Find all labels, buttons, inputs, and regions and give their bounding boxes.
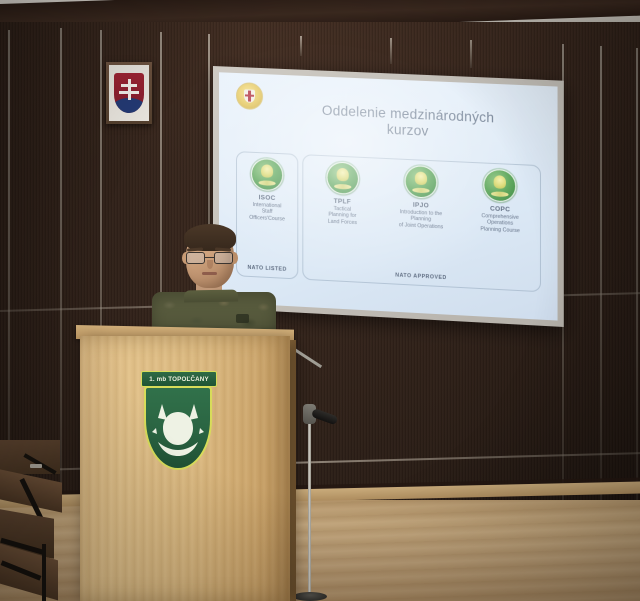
unit-crest: 1. mb TOPOĽČANY	[139, 371, 217, 471]
course-description: International Staff Officers'Course	[247, 202, 287, 223]
unit-crest-banner: 1. mb TOPOĽČANY	[141, 371, 217, 387]
uniform-patch	[236, 314, 249, 323]
course-description: Tactical Planning for Land Forces	[326, 205, 359, 226]
speaker-collar	[184, 290, 238, 303]
microphone-stand-pole	[308, 419, 311, 601]
coat-of-arms-shield	[114, 73, 144, 113]
course-badge-icon	[251, 158, 283, 192]
coat-of-arms-mat	[109, 65, 149, 121]
speaker-hair	[184, 224, 236, 251]
chair-leg	[42, 544, 46, 601]
nato-status-label: NATO APPROVED	[395, 272, 446, 281]
course-code: IPJO	[413, 202, 429, 210]
course-description: Comprehensive Operations Planning Course	[478, 213, 522, 235]
course-description: Introduction to the Planning of Joint Op…	[397, 209, 445, 231]
course-badge-icon	[326, 161, 358, 195]
double-cross-vertical	[128, 79, 131, 100]
chair-frame-cap	[30, 464, 42, 468]
course-badge-icon	[405, 165, 438, 199]
lynx-head-icon	[150, 398, 206, 460]
chair-seat	[0, 469, 62, 512]
course-group-nato-approved: TPLF Tactical Planning for Land Forces I…	[302, 154, 541, 292]
course-groups: ISOC International Staff Officers'Course…	[236, 151, 541, 292]
glasses-lens-left	[186, 252, 205, 264]
slide-emblem-icon	[236, 82, 263, 110]
glasses-bridge	[205, 257, 214, 258]
chairs-group	[0, 440, 86, 601]
slide-title: Oddelenie medzinárodných kurzov	[271, 101, 546, 146]
course-card-ipjo: IPJO Introduction to the Planning of Joi…	[389, 164, 452, 231]
course-code: ISOC	[259, 194, 276, 202]
course-desc-line: of Joint Operations	[399, 222, 443, 231]
unit-crest-text: 1. mb TOPOĽČANY	[149, 376, 209, 383]
course-cards: ISOC International Staff Officers'Course	[237, 157, 297, 223]
course-badge-icon	[484, 169, 517, 203]
double-cross-lower-bar	[119, 91, 139, 94]
course-card-isoc: ISOC International Staff Officers'Course	[237, 157, 297, 223]
microphone-stand-base	[293, 592, 327, 601]
presentation-room-photo: Oddelenie medzinárodných kurzov ISOC Int…	[0, 0, 640, 601]
slide-emblem-shield-icon	[244, 89, 255, 103]
speaker-mouth	[202, 272, 217, 275]
course-cards: TPLF Tactical Planning for Land Forces I…	[303, 160, 540, 235]
glasses-lens-right	[214, 252, 233, 264]
course-card-tplf: TPLF Tactical Planning for Land Forces	[311, 161, 374, 228]
unit-crest-shield	[144, 386, 212, 470]
triple-mound	[114, 98, 144, 113]
double-cross-upper-bar	[121, 84, 137, 87]
course-card-copc: COPC Comprehensive Operations Planning C…	[468, 168, 532, 235]
speaker-nose	[207, 260, 213, 269]
speaker	[150, 222, 276, 340]
course-desc-line: Land Forces	[328, 218, 357, 226]
course-code: TPLF	[334, 198, 351, 206]
course-code: COPC	[490, 205, 510, 213]
course-desc-line: Planning Course	[480, 226, 519, 234]
slovak-coat-of-arms	[106, 62, 152, 124]
